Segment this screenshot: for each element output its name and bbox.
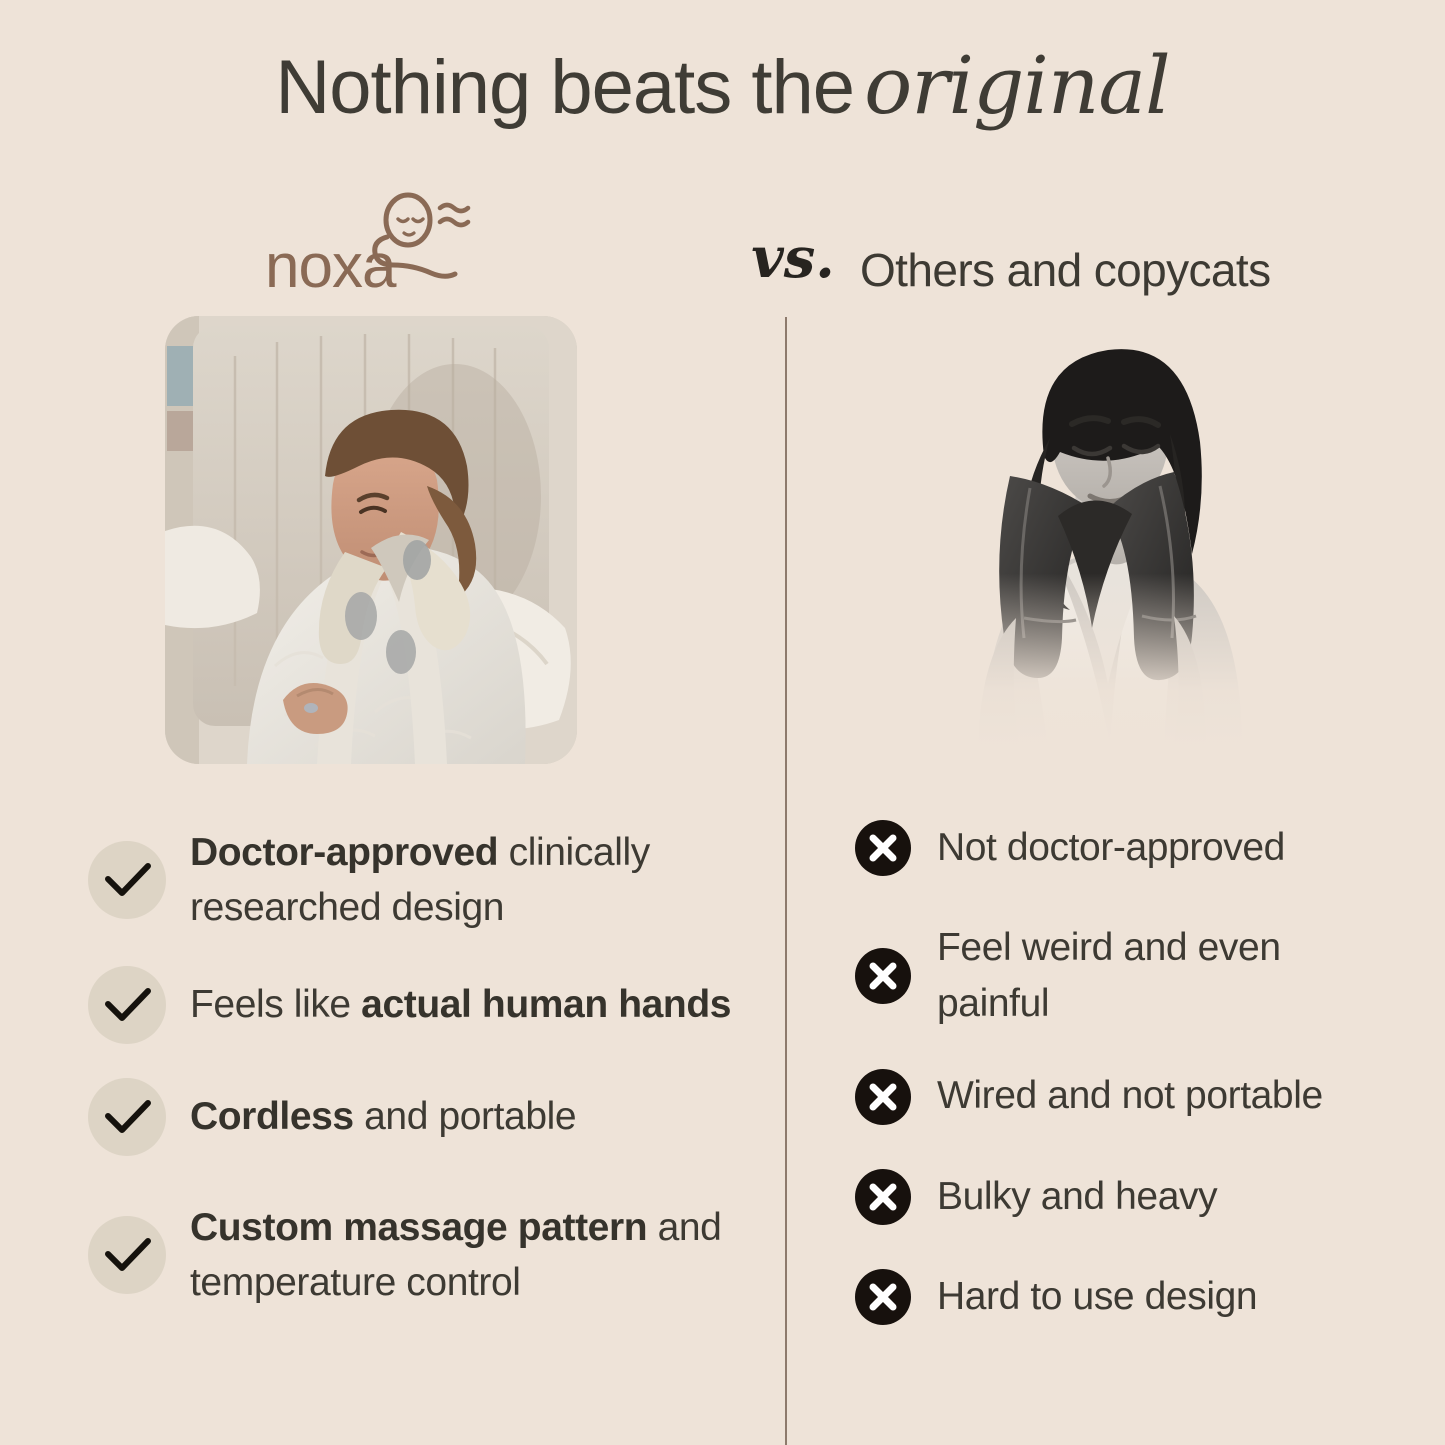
feature-bold-lead: Custom massage pattern [190, 1206, 647, 1249]
list-item: Feels like actual human hands [88, 966, 758, 1044]
negative-text: Feel weird and even painful [937, 920, 1357, 1032]
negative-text: Hard to use design [937, 1269, 1257, 1325]
list-item: Cordless and portable [88, 1078, 758, 1156]
x-icon [855, 1269, 911, 1325]
column-divider [785, 317, 787, 1445]
list-item: Wired and not portable [855, 1068, 1415, 1124]
feature-bold-tail: actual human hands [361, 983, 731, 1026]
headline-emphasis: original [864, 39, 1170, 132]
x-icon [855, 1169, 911, 1225]
noxa-logo: noxa [265, 192, 565, 304]
brand-wordmark: noxa [265, 236, 395, 298]
x-icon [855, 820, 911, 876]
negative-text: Wired and not portable [937, 1068, 1323, 1124]
feature-bold-lead: Doctor-approved [190, 831, 498, 874]
headline-lead: Nothing beats the [275, 45, 854, 130]
versus-label: vs. [733, 225, 853, 291]
competitor-product-photo [938, 330, 1283, 750]
list-item: Doctor-approved clinically researched de… [88, 825, 758, 936]
right-column-title: Others and copycats [860, 245, 1400, 296]
feature-text: Cordless and portable [190, 1089, 576, 1144]
left-column-header: noxa [90, 186, 710, 306]
feature-bold-lead: Cordless [190, 1095, 354, 1138]
noxa-product-photo [165, 316, 577, 764]
check-icon [88, 966, 166, 1044]
check-icon [88, 841, 166, 919]
feature-prefix: Feels like [190, 983, 361, 1026]
list-item: Feel weird and even painful [855, 920, 1415, 1032]
check-icon [88, 1216, 166, 1294]
list-item: Custom massage pattern and temperature c… [88, 1200, 758, 1311]
list-item: Bulky and heavy [855, 1169, 1415, 1225]
feature-text: Doctor-approved clinically researched de… [190, 825, 758, 936]
list-item: Hard to use design [855, 1269, 1415, 1325]
feature-text: Custom massage pattern and temperature c… [190, 1200, 758, 1311]
feature-rest: and portable [354, 1095, 576, 1138]
negative-text: Bulky and heavy [937, 1169, 1217, 1225]
positive-feature-list: Doctor-approved clinically researched de… [88, 825, 758, 1311]
page-title: Nothing beats theoriginal [0, 44, 1445, 128]
check-icon [88, 1078, 166, 1156]
x-icon [855, 1069, 911, 1125]
negative-text: Not doctor-approved [937, 820, 1285, 876]
list-item: Not doctor-approved [855, 820, 1415, 876]
x-icon [855, 948, 911, 1004]
feature-text: Feels like actual human hands [190, 977, 731, 1032]
negative-feature-list: Not doctor-approved Feel weird and even … [855, 820, 1415, 1325]
